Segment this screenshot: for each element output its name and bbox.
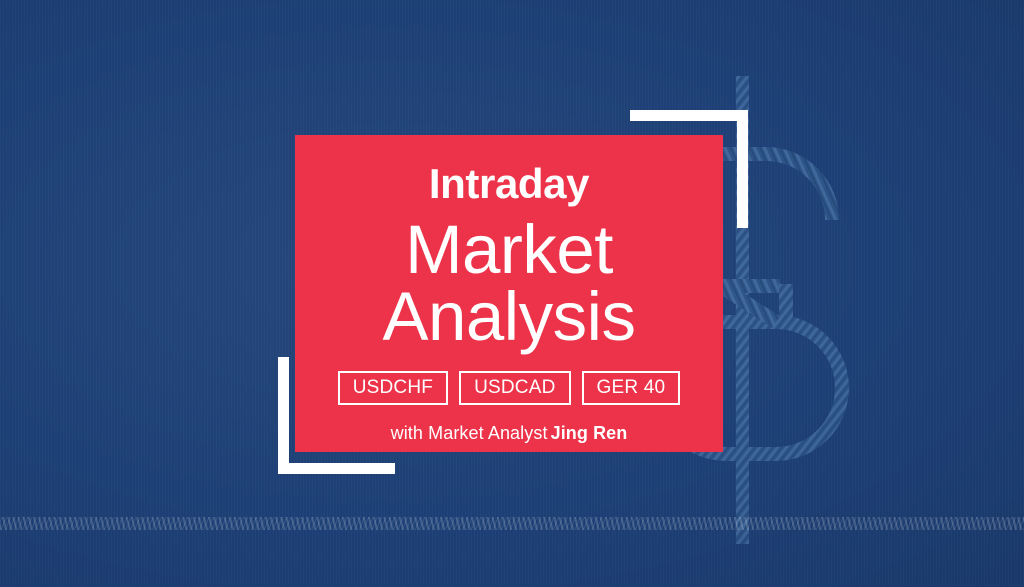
bracket-horizontal-bar xyxy=(278,463,395,474)
textured-horizontal-rule xyxy=(0,517,1024,530)
title-line-1: Market xyxy=(383,217,636,284)
promo-card: Intraday Market Analysis USDCHF USDCAD G… xyxy=(295,135,723,452)
byline-prefix: with Market Analyst xyxy=(391,423,548,443)
promo-banner: Intraday Market Analysis USDCHF USDCAD G… xyxy=(0,0,1024,587)
ticker-badge-ger40[interactable]: GER 40 xyxy=(582,371,681,405)
ticker-badge-usdcad[interactable]: USDCAD xyxy=(459,371,570,405)
page-title: Market Analysis xyxy=(383,217,636,351)
bracket-horizontal-bar xyxy=(630,110,748,121)
analyst-name: Jing Ren xyxy=(551,423,628,443)
bracket-vertical-bar xyxy=(737,110,748,228)
title-kicker: Intraday xyxy=(429,163,589,205)
title-line-2: Analysis xyxy=(383,284,636,351)
ticker-badge-usdchf[interactable]: USDCHF xyxy=(338,371,448,405)
ticker-badge-group: USDCHF USDCAD GER 40 xyxy=(338,371,681,405)
bracket-vertical-bar xyxy=(278,357,289,474)
byline: with Market AnalystJing Ren xyxy=(391,423,628,444)
